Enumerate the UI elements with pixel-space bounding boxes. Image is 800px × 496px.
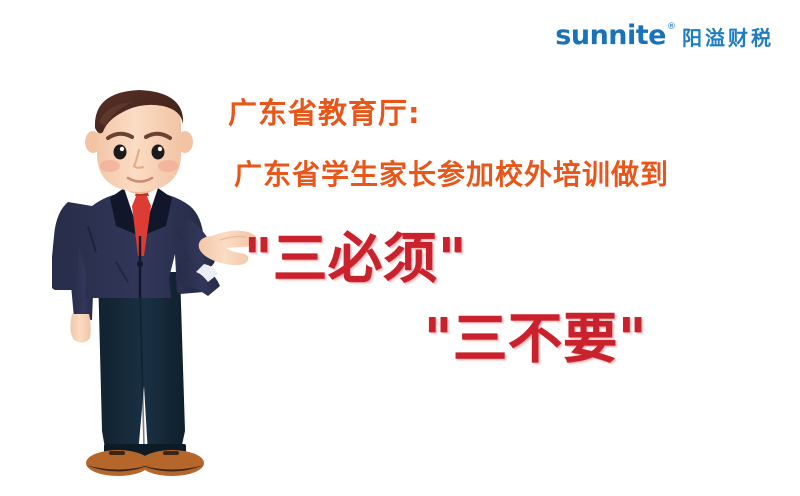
emphasis-phrase-san-bu-yao: "三不要" (424, 312, 647, 366)
logo-chinese-name: 阳溢财税 (682, 28, 774, 49)
headline-line-2: 广东省学生家长参加校外培训做到 (234, 160, 780, 191)
logo-wordmark: sunnite (555, 22, 666, 49)
businessman-svg (52, 86, 257, 478)
poster-canvas: sunnite ® 阳溢财税 (0, 0, 800, 496)
head (85, 90, 193, 192)
emphasis-phrase-san-bi-xu: "三必须" (244, 232, 467, 286)
headline-block: 广东省教育厅: 广东省学生家长参加校外培训做到 (228, 98, 780, 191)
left-eye (114, 145, 127, 160)
businessman-illustration (52, 86, 257, 478)
headline-line-1: 广东省教育厅: (228, 98, 780, 130)
registered-trademark-icon: ® (667, 23, 676, 32)
logo-wordmark-group: sunnite ® (555, 22, 676, 49)
trousers (98, 272, 185, 454)
left-cheek-blush (100, 160, 120, 172)
right-cheek-blush (158, 160, 178, 172)
brand-logo: sunnite ® 阳溢财税 (555, 22, 774, 49)
right-eye (152, 145, 165, 160)
